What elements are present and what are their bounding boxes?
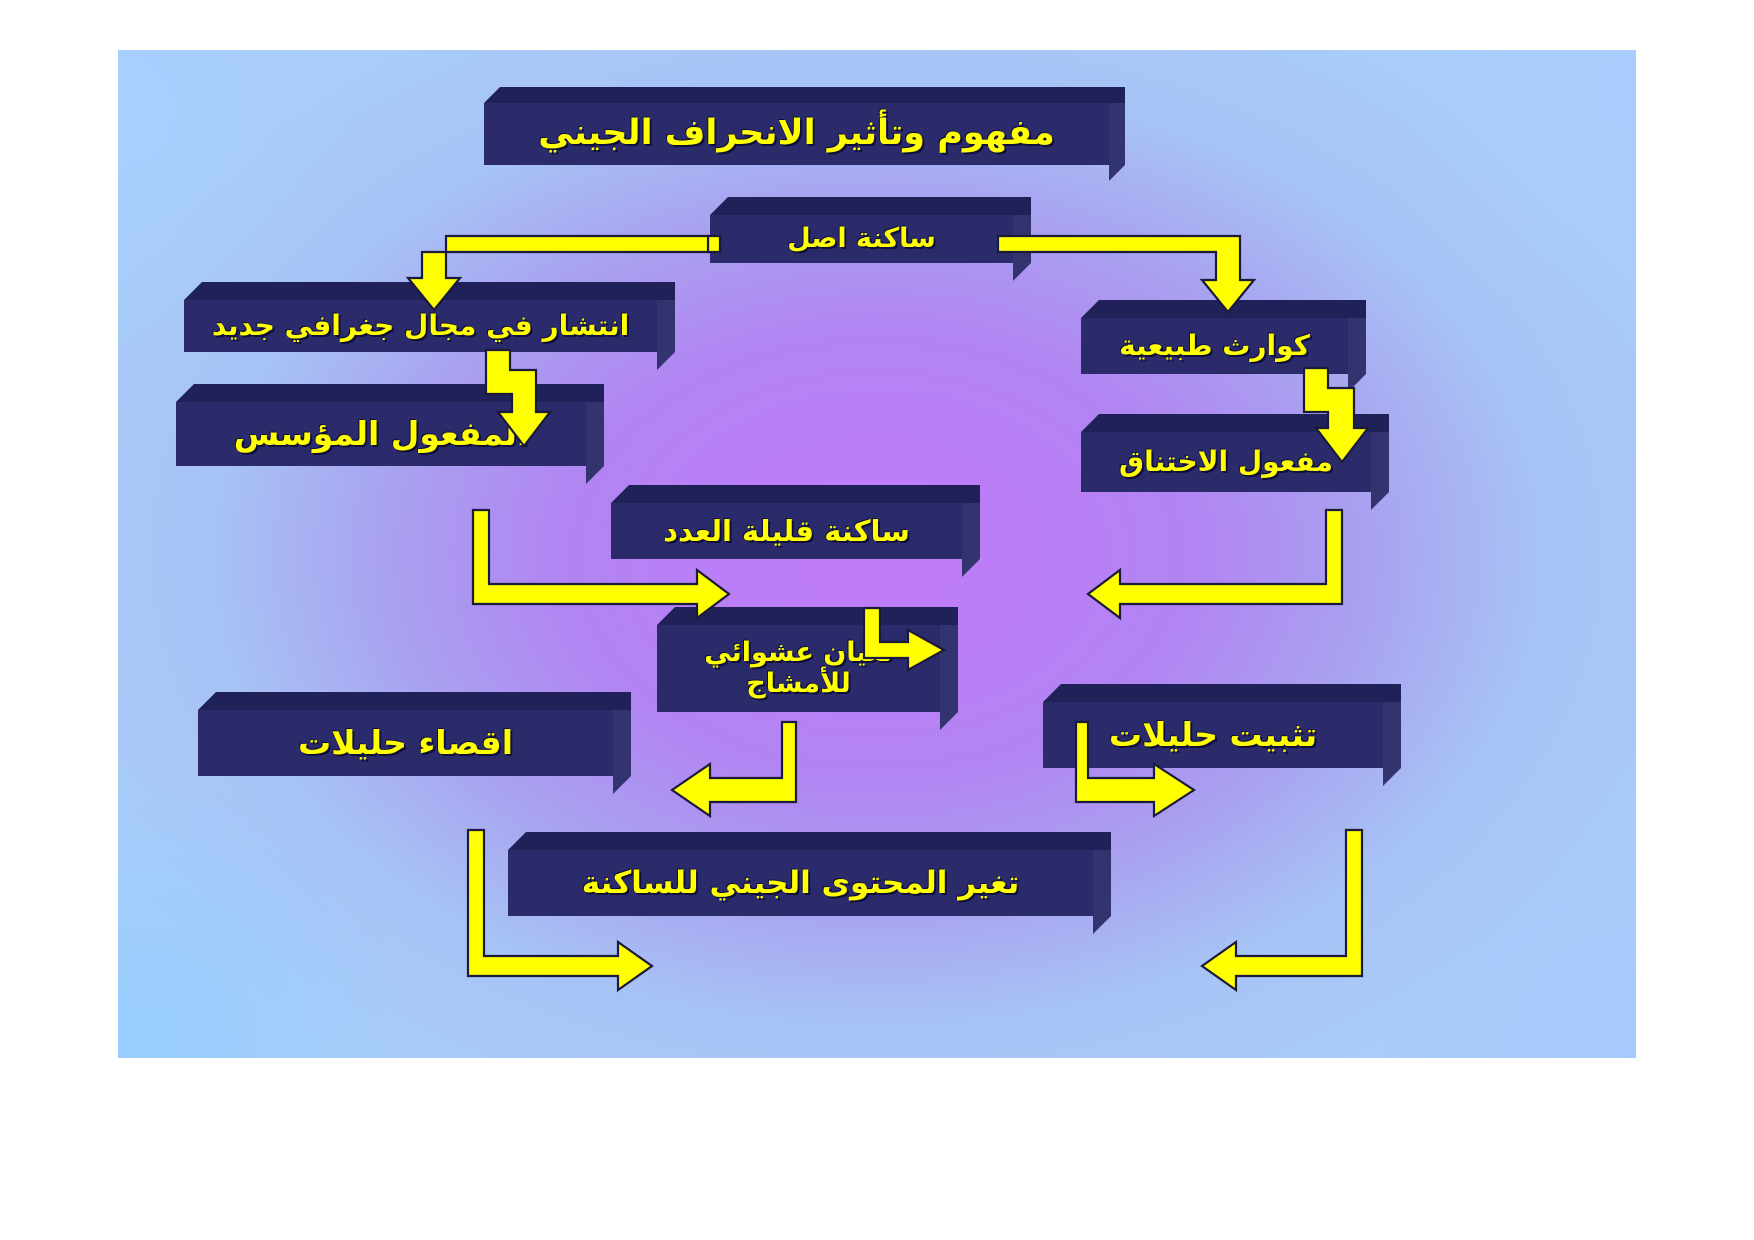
node-exclusion: اقصاء حليلات [198,710,613,776]
slide-canvas: مفهوم وتأثير الانحراف الجيني ساكنة اصل ا… [118,50,1636,1058]
arrow-source-to-spread [408,198,708,318]
arrow-smallpop-to-random [858,608,968,688]
node-disasters: كوارث طبيعية [1081,318,1348,374]
arrow-exclusion-to-outcome [468,830,658,980]
box-side-bevel [1109,103,1125,181]
arrow-disasters-to-bottleneck [1288,368,1398,478]
node-random-label-line2: للأمشاج [746,669,850,699]
arrow-random-to-fixation [1076,722,1206,832]
arrow-spread-to-founder [468,350,578,460]
diagram-layer: مفهوم وتأثير الانحراف الجيني ساكنة اصل ا… [118,50,1636,1058]
arrow-founder-to-smallpop [473,510,733,620]
box-side-bevel [1383,702,1401,786]
arrow-fixation-to-outcome [1178,830,1378,980]
box-top-bevel [484,87,1125,103]
box-side-bevel [962,503,980,577]
node-disasters-label: كوارث طبيعية [1081,318,1348,374]
arrow-random-to-exclusion [666,722,796,832]
box-side-bevel [586,402,604,484]
box-side-bevel [1093,850,1111,934]
node-exclusion-label: اقصاء حليلات [198,710,613,776]
arrow-bottleneck-to-smallpop [1078,510,1358,620]
arrow-source-to-disasters [998,198,1258,318]
node-title: مفهوم وتأثير الانحراف الجيني [484,103,1109,165]
node-source: ساكنة اصل [710,215,1013,263]
box-top-bevel [198,692,631,710]
box-top-bevel [1043,684,1401,702]
box-top-bevel [710,197,1031,215]
node-title-label: مفهوم وتأثير الانحراف الجيني [484,103,1109,165]
box-top-bevel [611,485,980,503]
box-side-bevel [613,710,631,794]
node-source-label: ساكنة اصل [710,215,1013,263]
